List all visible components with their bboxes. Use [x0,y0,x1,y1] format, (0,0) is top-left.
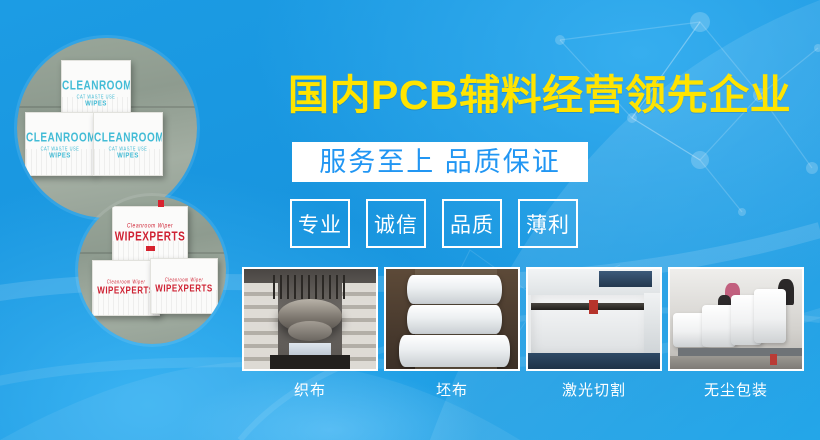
gallery-item-greige-fabric[interactable]: 坯布 [384,267,520,400]
gallery-caption: 激光切割 [526,379,662,400]
gallery-photo-frame[interactable] [384,267,520,371]
fabric-roll [407,275,502,304]
product-pack: CLEANROOM CAT WASTE USE WIPES [25,112,95,176]
gallery-photo-frame[interactable] [526,267,662,371]
machine-control-panel [599,271,652,287]
photo-greige-fabric-rolls [386,269,518,369]
product-pack: Cleanroom Wiper WIPEXPERTS [112,206,188,266]
gallery-photo-frame[interactable] [242,267,378,371]
keyword-box-low-margin[interactable]: 薄利 [518,199,578,248]
banner-headline: 国内PCB辅料经营领先企业 [288,72,788,118]
pack-creases [151,290,217,313]
keyword-box-professional[interactable]: 专业 [290,199,350,248]
photo-cleanroom-packs: CLEANROOM CAT WASTE USE WIPES CLEANROOM … [17,38,197,218]
machine-side-cover [644,293,660,355]
pack-sub-label: Cleanroom Wiper [151,276,217,282]
process-gallery: 织布 坯布 [242,267,804,400]
keyword-box-quality[interactable]: 品质 [442,199,502,248]
machine-cylinder-lower [288,321,333,341]
fabric-roll [399,335,510,367]
gallery-caption: 织布 [242,379,378,400]
fabric-bale [754,289,786,343]
slogan-bar: 服务至上 品质保证 [292,142,588,182]
product-photo-wipexperts: Cleanroom Wiper WIPEXPERTS Cleanroom Wip… [78,196,226,344]
red-stool [770,354,777,365]
slogan-text: 服务至上 品质保证 [319,149,561,176]
photo-floor [670,356,802,369]
gallery-caption: 坯布 [384,379,520,400]
pack-brand-label: CLEANROOM [62,80,130,94]
photo-circular-knitting-machine [244,269,376,369]
product-pack: Cleanroom Wiper WIPEXPERTS [150,258,218,314]
product-photo-cleanroom-wipes: CLEANROOM CAT WASTE USE WIPES CLEANROOM … [17,38,197,218]
gallery-item-weaving[interactable]: 织布 [242,267,378,400]
gallery-caption: 无尘包装 [668,379,804,400]
product-pack: CLEANROOM CAT WASTE USE WIPES [93,112,163,176]
pack-creases [94,149,162,175]
fabric-roll [407,305,502,334]
machine-creel-spikes [273,275,347,299]
photo-cleanroom-packing [670,269,802,369]
pack-red-mark [158,200,164,207]
photo-wipexperts-packs: Cleanroom Wiper WIPEXPERTS Cleanroom Wip… [78,196,226,344]
machine-base [270,355,349,369]
pack-brand-label: CLEANROOM [26,132,94,146]
pack-brand-label: CLEANROOM [94,132,162,146]
keyword-box-integrity[interactable]: 诚信 [366,199,426,248]
gallery-item-cleanroom-packing[interactable]: 无尘包装 [668,267,804,400]
gallery-photo-frame[interactable] [668,267,804,371]
machine-frame [528,353,660,369]
photo-laser-cutting-table [528,269,660,369]
promo-banner: CLEANROOM CAT WASTE USE WIPES CLEANROOM … [0,0,820,440]
gallery-item-laser-cutting[interactable]: 激光切割 [526,267,662,400]
keyword-list: 专业 诚信 品质 薄利 [290,199,578,248]
laser-head [589,300,598,314]
pack-creases [26,149,94,175]
pack-sub-label: Cleanroom Wiper [113,222,187,230]
